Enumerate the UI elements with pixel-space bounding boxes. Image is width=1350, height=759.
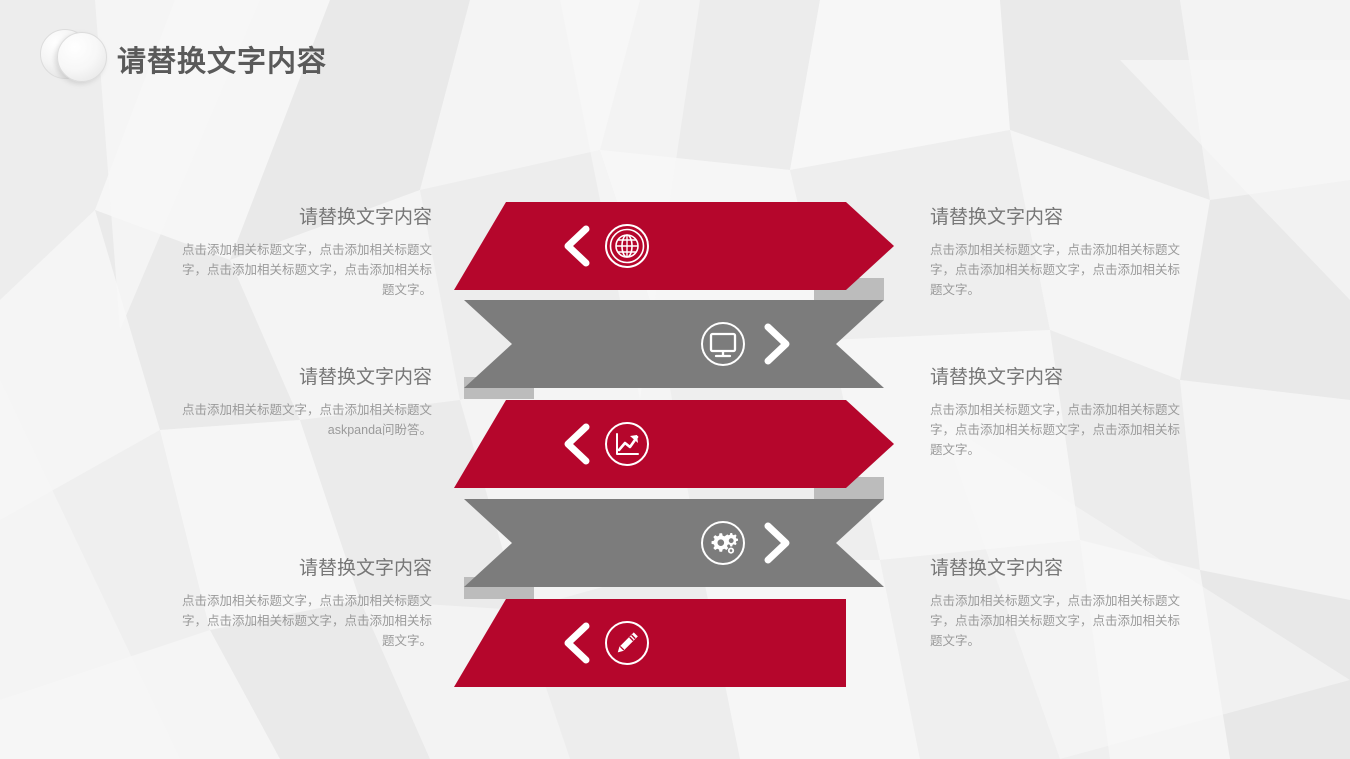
right-block-2-title: 请替换文字内容 <box>930 365 1192 391</box>
left-text-block-2: 请替换文字内容 点击添加相关标题文字，点击添加相关标题文askpanda问盼答。 <box>170 365 432 440</box>
growth-chart-icon <box>604 421 650 467</box>
band-3-growth-chart[interactable] <box>454 400 894 488</box>
right-block-1-body: 点击添加相关标题文字，点击添加相关标题文字，点击添加相关标题文字，点击添加相关标… <box>930 240 1192 300</box>
left-text-block-3: 请替换文字内容 点击添加相关标题文字，点击添加相关标题文字，点击添加相关标题文字… <box>170 556 432 651</box>
globe-icon <box>604 223 650 269</box>
chevron-left-icon <box>558 620 592 666</box>
pencil-icon <box>604 620 650 666</box>
monitor-icon <box>700 321 746 367</box>
chevron-left-icon <box>558 421 592 467</box>
right-block-2-body: 点击添加相关标题文字，点击添加相关标题文字，点击添加相关标题文字，点击添加相关标… <box>930 400 1192 460</box>
band-5-pencil[interactable] <box>454 599 846 687</box>
right-block-1-title: 请替换文字内容 <box>930 205 1192 231</box>
left-block-1-title: 请替换文字内容 <box>170 205 432 231</box>
right-text-block-2: 请替换文字内容 点击添加相关标题文字，点击添加相关标题文字，点击添加相关标题文字… <box>930 365 1192 460</box>
left-block-3-body: 点击添加相关标题文字，点击添加相关标题文字，点击添加相关标题文字，点击添加相关标… <box>170 591 432 651</box>
right-text-block-3: 请替换文字内容 点击添加相关标题文字，点击添加相关标题文字，点击添加相关标题文字… <box>930 556 1192 651</box>
band-1-globe[interactable] <box>454 202 894 290</box>
right-block-3-title: 请替换文字内容 <box>930 556 1192 582</box>
left-block-2-title: 请替换文字内容 <box>170 365 432 391</box>
left-text-block-1: 请替换文字内容 点击添加相关标题文字，点击添加相关标题文字，点击添加相关标题文字… <box>170 205 432 300</box>
chevron-right-icon <box>760 520 794 566</box>
chevron-right-icon <box>760 321 794 367</box>
right-text-block-1: 请替换文字内容 点击添加相关标题文字，点击添加相关标题文字，点击添加相关标题文字… <box>930 205 1192 300</box>
left-block-3-title: 请替换文字内容 <box>170 556 432 582</box>
band-4-gears[interactable] <box>454 499 884 587</box>
slide-canvas: 请替换文字内容 <box>0 0 1350 759</box>
right-block-3-body: 点击添加相关标题文字，点击添加相关标题文字，点击添加相关标题文字，点击添加相关标… <box>930 591 1192 651</box>
left-block-2-body: 点击添加相关标题文字，点击添加相关标题文askpanda问盼答。 <box>170 400 432 440</box>
chevron-left-icon <box>558 223 592 269</box>
gears-icon <box>700 520 746 566</box>
band-2-monitor[interactable] <box>454 300 884 388</box>
left-block-1-body: 点击添加相关标题文字，点击添加相关标题文字，点击添加相关标题文字，点击添加相关标… <box>170 240 432 300</box>
